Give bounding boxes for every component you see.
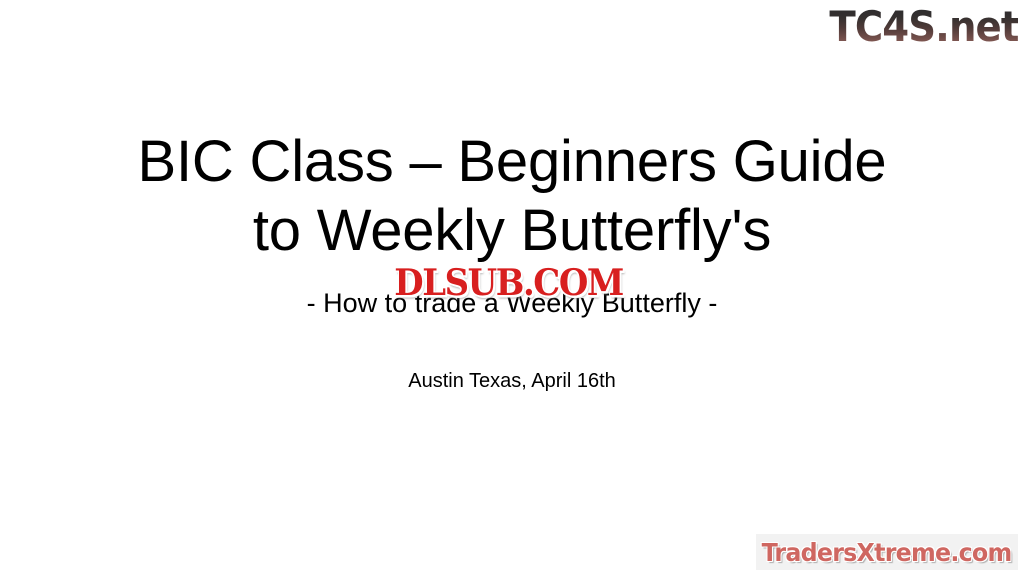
tc4s-brand-logo: TC4S.net xyxy=(828,2,1018,52)
tradersxtreme-watermark-text: TradersXtreme.com xyxy=(762,540,1012,565)
slide-title-line-1: BIC Class – Beginners Guide xyxy=(0,127,1024,196)
tc4s-brand-logo-text: TC4S.net xyxy=(829,6,1018,48)
presentation-slide: TC4S.net BIC Class – Beginners Guide to … xyxy=(0,0,1024,576)
slide-title: BIC Class – Beginners Guide to Weekly Bu… xyxy=(0,127,1024,265)
slide-title-line-2: to Weekly Butterfly's xyxy=(0,196,1024,265)
slide-subtitle: - How to trade a Weekly Butterfly - xyxy=(0,287,1024,319)
tradersxtreme-watermark: TradersXtreme.com xyxy=(756,534,1018,570)
slide-dateline: Austin Texas, April 16th xyxy=(0,369,1024,393)
